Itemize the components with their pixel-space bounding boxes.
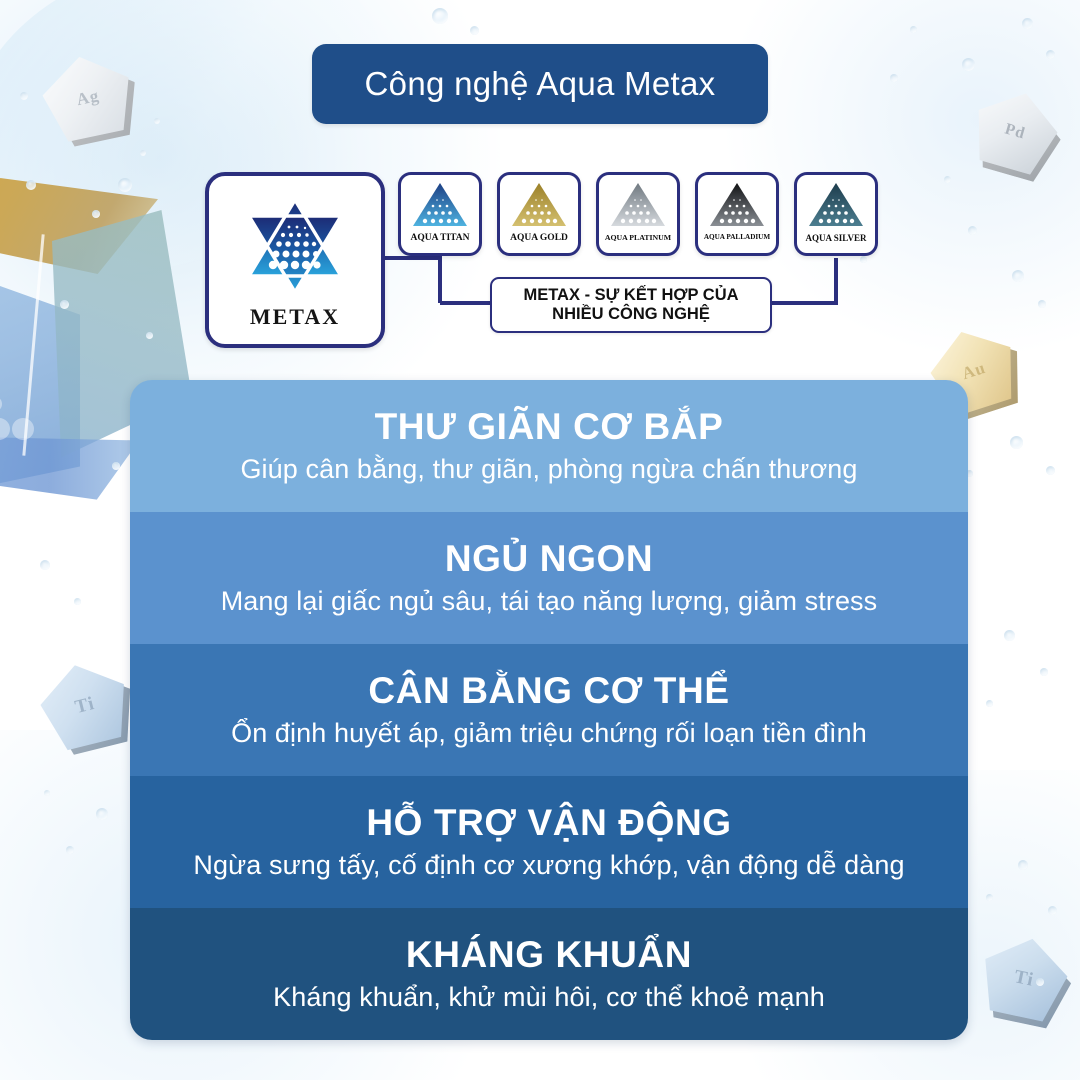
benefit-band: THƯ GIÃN CƠ BẮPGiúp cân bằng, thư giãn, …	[130, 380, 968, 512]
badge-label: AQUA SILVER	[806, 234, 867, 243]
badge-aqua-silver: AQUA SILVER	[794, 172, 878, 256]
benefit-title: NGỦ NGON	[445, 540, 653, 579]
water-droplet	[1046, 466, 1055, 475]
connector-metax-to-titan	[377, 258, 440, 303]
metax-logo-card: METAX	[205, 172, 385, 348]
crystal-bubble-pattern	[0, 378, 34, 448]
titanium-pentagon-right-icon: Ti	[974, 930, 1073, 1028]
water-droplet	[44, 790, 50, 796]
chip-shadow	[39, 659, 143, 761]
badge-aqua-gold: AQUA GOLD	[497, 172, 581, 256]
metax-brand-label: METAX	[250, 304, 340, 330]
water-droplet	[986, 894, 993, 901]
chip-face	[974, 930, 1073, 1028]
badge-label: AQUA PALLADIUM	[704, 234, 770, 241]
technology-diagram: METAX	[0, 0, 1080, 380]
water-droplet	[112, 462, 120, 470]
triangle-dots-icon	[607, 180, 669, 230]
benefit-band: HỖ TRỢ VẬN ĐỘNGNgừa sưng tấy, cố định cơ…	[130, 776, 968, 908]
water-droplet	[1048, 906, 1057, 915]
water-droplet	[1036, 978, 1044, 986]
infographic-canvas: Ag Pd Au Ti Ti Công nghệ Aqua Metax	[0, 0, 1080, 1080]
element-symbol: Ti	[73, 693, 97, 719]
benefit-band: CÂN BẰNG CƠ THỂỔn định huyết áp, giảm tr…	[130, 644, 968, 776]
titanium-pentagon-left-icon: Ti	[33, 655, 137, 757]
water-droplet	[1040, 668, 1048, 676]
chip-face	[33, 655, 137, 757]
connector-silver-to-caption	[768, 258, 836, 303]
water-droplet	[66, 846, 74, 854]
benefit-title: CÂN BẰNG CƠ THỂ	[368, 672, 729, 711]
caption-line-2: NHIỀU CÔNG NGHỆ	[552, 305, 710, 323]
badge-aqua-platinum: AQUA PLATINUM	[596, 172, 680, 256]
triangle-dots-icon	[508, 180, 570, 230]
benefit-title: HỖ TRỢ VẬN ĐỘNG	[366, 804, 731, 843]
star-of-david-metax-logo	[233, 190, 357, 302]
badge-label: AQUA TITAN	[410, 234, 469, 244]
benefit-subtitle: Ổn định huyết áp, giảm triệu chứng rối l…	[231, 718, 867, 748]
water-droplet	[1004, 630, 1015, 641]
benefit-subtitle: Giúp cân bằng, thư giãn, phòng ngừa chấn…	[240, 454, 857, 484]
caption-line-1: METAX - SỰ KẾT HỢP CỦA	[523, 286, 738, 304]
metax-caption-box: METAX - SỰ KẾT HỢP CỦA NHIỀU CÔNG NGHỆ	[490, 277, 772, 333]
element-symbol: Ti	[1012, 966, 1036, 992]
benefit-title: THƯ GIÃN CƠ BẮP	[375, 408, 724, 447]
water-droplet	[1018, 860, 1028, 870]
benefits-list: THƯ GIÃN CƠ BẮPGiúp cân bằng, thư giãn, …	[130, 380, 968, 1040]
crystal-bottom-face	[0, 436, 144, 510]
triangle-dots-icon	[805, 180, 867, 230]
benefit-subtitle: Ngừa sưng tấy, cố định cơ xương khớp, vậ…	[193, 850, 904, 880]
triangle-dots-icon	[409, 180, 471, 230]
benefit-band: NGỦ NGONMang lại giấc ngủ sâu, tái tạo n…	[130, 512, 968, 644]
triangle-dots-icon	[706, 180, 768, 230]
water-droplet	[40, 560, 50, 570]
badge-label: AQUA GOLD	[510, 234, 568, 244]
badge-aqua-palladium: AQUA PALLADIUM	[695, 172, 779, 256]
benefit-band: KHÁNG KHUẨNKháng khuẩn, khử mùi hôi, cơ …	[130, 908, 968, 1040]
chip-shadow	[978, 937, 1077, 1035]
benefit-title: KHÁNG KHUẨN	[406, 936, 692, 975]
badge-label: AQUA PLATINUM	[605, 234, 671, 242]
water-droplet	[986, 700, 993, 707]
water-droplet	[96, 808, 108, 820]
water-droplet	[74, 598, 81, 605]
benefit-subtitle: Mang lại giấc ngủ sâu, tái tạo năng lượn…	[221, 586, 878, 616]
benefit-subtitle: Kháng khuẩn, khử mùi hôi, cơ thể khoẻ mạ…	[273, 982, 825, 1012]
water-droplet	[1010, 436, 1023, 449]
badge-aqua-titan: AQUA TITAN	[398, 172, 482, 256]
